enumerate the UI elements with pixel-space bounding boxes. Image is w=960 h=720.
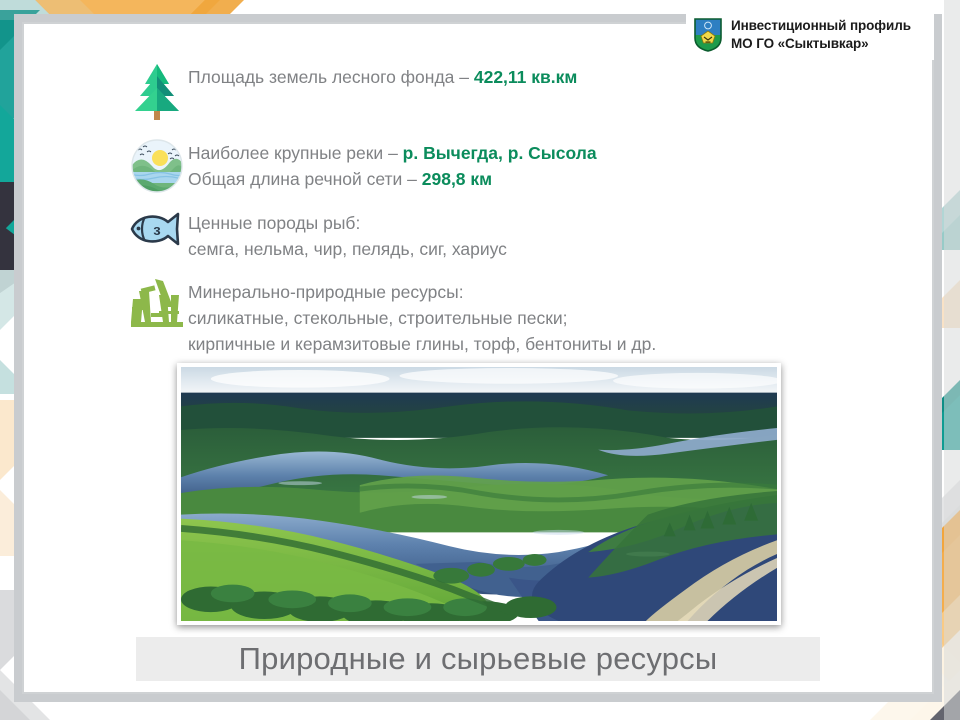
fact-line: Площадь земель лесного фонда – 422,11 кв… bbox=[188, 64, 577, 90]
fact-body: Минерально-природные ресурсы: силикатные… bbox=[188, 277, 656, 358]
slide-root: Инвестиционный профиль МО ГО «Сыктывкар» bbox=[0, 0, 960, 720]
fact-text: Наиболее крупные реки – bbox=[188, 143, 403, 163]
fact-text: Площадь земель лесного фонда – bbox=[188, 67, 474, 87]
slide-title: Природные и сырьевые ресурсы bbox=[239, 641, 718, 677]
header-line-2: МО ГО «Сыктывкар» bbox=[731, 35, 911, 53]
fact-icon-wrap: з bbox=[126, 208, 188, 250]
fact-highlight: р. Вычегда, р. Сысола bbox=[403, 143, 597, 163]
slide-title-bar: Природные и сырьевые ресурсы bbox=[136, 637, 820, 681]
fact-text: семга, нельма, чир, пелядь, сиг, хариус bbox=[188, 239, 507, 259]
fact-line: Наиболее крупные реки – р. Вычегда, р. С… bbox=[188, 140, 597, 166]
fact-icon-wrap bbox=[126, 138, 188, 194]
fact-icon-wrap bbox=[126, 277, 188, 329]
fish-icon: з bbox=[128, 208, 186, 250]
fact-line: силикатные, стекольные, строительные пес… bbox=[188, 305, 656, 331]
fact-text: Общая длина речной сети – bbox=[188, 169, 422, 189]
landscape-river-icon bbox=[130, 138, 184, 194]
fact-line: Минерально-природные ресурсы: bbox=[188, 279, 656, 305]
fact-text: Минерально-природные ресурсы: bbox=[188, 282, 464, 302]
fact-highlight: 422,11 кв.км bbox=[474, 67, 578, 87]
oil-pumpjack-icon bbox=[129, 277, 185, 329]
aerial-river-meadow-photo bbox=[181, 367, 777, 621]
pine-tree-icon bbox=[133, 62, 181, 122]
header-title: Инвестиционный профиль МО ГО «Сыктывкар» bbox=[731, 17, 911, 53]
fact-body: Ценные породы рыб: семга, нельма, чир, п… bbox=[188, 208, 507, 263]
fact-body: Площадь земель лесного фонда – 422,11 кв… bbox=[188, 62, 577, 90]
fact-fish: з Ценные породы рыб: семга, нельма, чир,… bbox=[126, 208, 826, 263]
fact-line: семга, нельма, чир, пелядь, сиг, хариус bbox=[188, 236, 507, 262]
fact-text: Ценные породы рыб: bbox=[188, 213, 360, 233]
fact-line: кирпичные и керамзитовые глины, торф, бе… bbox=[188, 331, 656, 357]
fact-text: кирпичные и керамзитовые глины, торф, бе… bbox=[188, 334, 656, 354]
fact-icon-wrap bbox=[126, 62, 188, 122]
header-line-1: Инвестиционный профиль bbox=[731, 17, 911, 35]
fact-forest: Площадь земель лесного фонда – 422,11 кв… bbox=[126, 62, 826, 122]
fact-body: Наиболее крупные реки – р. Вычегда, р. С… bbox=[188, 138, 597, 193]
fact-text: силикатные, стекольные, строительные пес… bbox=[188, 308, 568, 328]
photo-frame bbox=[177, 363, 781, 625]
svg-text:з: з bbox=[153, 222, 160, 239]
fact-rivers: Наиболее крупные реки – р. Вычегда, р. С… bbox=[126, 138, 826, 194]
fact-minerals: Минерально-природные ресурсы: силикатные… bbox=[126, 277, 826, 358]
fact-line: Ценные породы рыб: bbox=[188, 210, 507, 236]
header-badge: Инвестиционный профиль МО ГО «Сыктывкар» bbox=[686, 10, 934, 60]
coat-of-arms-icon bbox=[694, 18, 722, 52]
fact-highlight: 298,8 км bbox=[422, 169, 492, 189]
fact-line: Общая длина речной сети – 298,8 км bbox=[188, 166, 597, 192]
facts-list: Площадь земель лесного фонда – 422,11 кв… bbox=[126, 62, 826, 361]
